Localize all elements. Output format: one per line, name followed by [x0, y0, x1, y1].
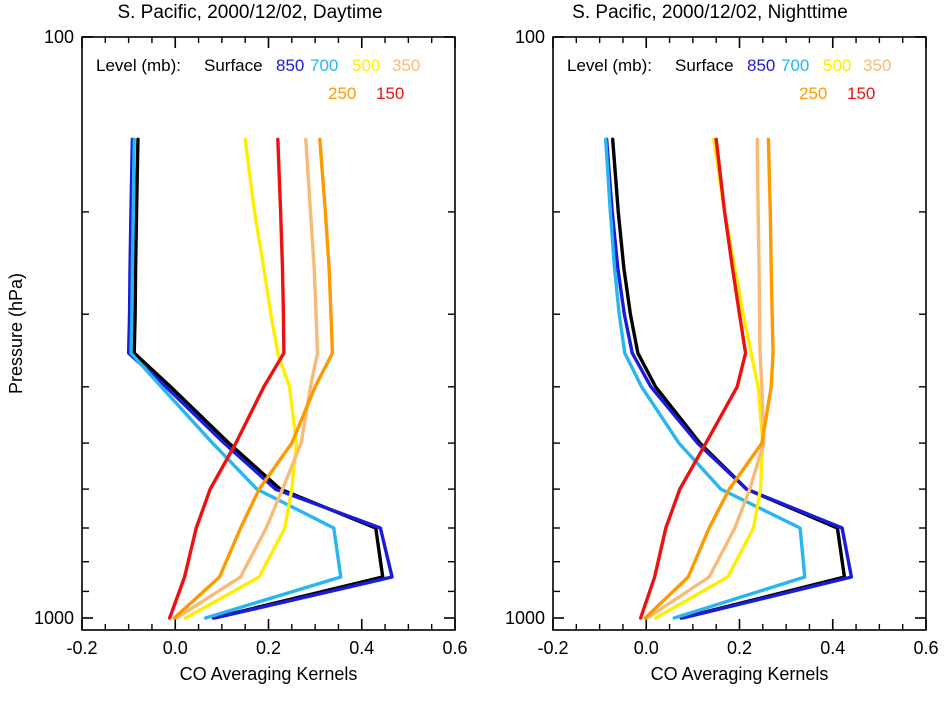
legend-item-700: 700 [781, 56, 809, 75]
curve-250 [645, 139, 773, 618]
legend-item-surface: Surface [675, 56, 734, 75]
svg-text:1000: 1000 [505, 608, 545, 628]
legend-prefix: Level (mb): [567, 56, 652, 75]
curve-700 [606, 139, 805, 618]
plot-area-nighttime: -0.20.00.20.40.61001000CO Averaging Kern… [0, 0, 951, 701]
curve-850 [607, 139, 852, 618]
legend-item-250: 250 [799, 84, 827, 103]
svg-text:0.0: 0.0 [634, 638, 659, 658]
curve-350 [647, 139, 764, 618]
svg-text:CO Averaging Kernels: CO Averaging Kernels [651, 664, 829, 684]
svg-text:0.6: 0.6 [913, 638, 938, 658]
legend-item-500: 500 [823, 56, 851, 75]
svg-text:-0.2: -0.2 [537, 638, 568, 658]
figure-root: S. Pacific, 2000/12/02, Daytime -0.20.00… [0, 0, 951, 701]
legend-item-350: 350 [863, 56, 891, 75]
svg-text:0.2: 0.2 [727, 638, 752, 658]
svg-text:0.4: 0.4 [820, 638, 845, 658]
svg-text:100: 100 [515, 27, 545, 47]
legend-item-850: 850 [747, 56, 775, 75]
curve-500 [656, 139, 763, 618]
curve-150 [641, 139, 746, 618]
legend-item-150: 150 [847, 84, 875, 103]
